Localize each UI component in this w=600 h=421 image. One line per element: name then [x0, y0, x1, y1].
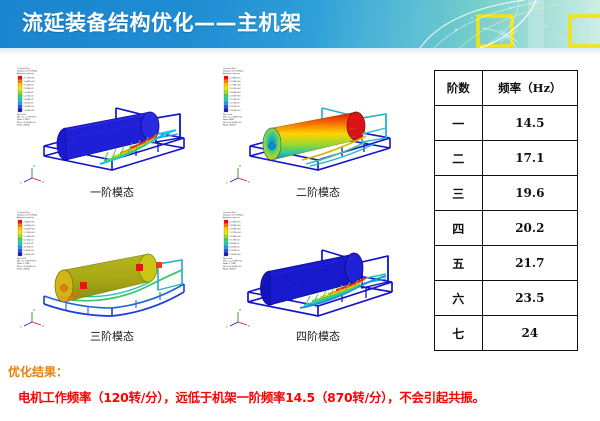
- fea-plot-mode-3: Contour Plot Displacement(Mag) Analysis …: [8, 204, 216, 330]
- svg-text:5.073E-01: 5.073E-01: [229, 103, 240, 105]
- svg-text:Contour Plot: Contour Plot: [223, 211, 236, 214]
- cell-frequency: 17.1: [482, 141, 577, 176]
- figure-caption: 二阶模态: [214, 184, 422, 200]
- svg-text:1.043E+00: 1.043E+00: [23, 80, 35, 83]
- svg-text:No result: No result: [223, 113, 233, 116]
- svg-text:1.173E+00: 1.173E+00: [23, 76, 35, 79]
- svg-text:Z: Z: [33, 308, 35, 312]
- svg-text:No result: No result: [223, 257, 233, 260]
- svg-text:Y: Y: [226, 181, 228, 185]
- svg-text:Displacement(Mag): Displacement(Mag): [17, 214, 37, 217]
- svg-text:Max = 1.173E+00: Max = 1.173E+00: [17, 116, 37, 119]
- cell-order: 七: [435, 316, 483, 351]
- svg-text:X: X: [42, 180, 44, 184]
- fea-plot-mode-4: Contour Plot Displacement(Mag) Analysis …: [214, 204, 422, 330]
- svg-text:Z: Z: [33, 164, 35, 168]
- svg-text:1.437E+00: 1.437E+00: [23, 228, 35, 231]
- svg-text:1.142E+00: 1.142E+00: [229, 235, 241, 238]
- svg-text:1.847E+00: 1.847E+00: [23, 220, 35, 223]
- svg-text:Displacement(Mag): Displacement(Mag): [17, 70, 37, 73]
- svg-text:No result: No result: [17, 257, 27, 260]
- cell-frequency: 23.5: [482, 281, 577, 316]
- column-header-frequency: 频率（Hz）: [482, 71, 577, 106]
- table-row: 一 14.5: [435, 106, 578, 141]
- fea-plot-mode-2: Contour Plot Displacement(Mag) Analysis …: [214, 60, 422, 186]
- table-row: 三 19.6: [435, 176, 578, 211]
- svg-text:0.000E+00: 0.000E+00: [229, 253, 241, 256]
- svg-text:1.231E+00: 1.231E+00: [23, 231, 35, 234]
- figure-caption: 三阶模态: [8, 328, 216, 344]
- svg-text:Node 38098: Node 38098: [223, 268, 236, 270]
- figure-mode-2: Contour Plot Displacement(Mag) Analysis …: [214, 60, 422, 206]
- banner-underglow: [0, 48, 600, 55]
- svg-text:Min = 0.000E+00: Min = 0.000E+00: [17, 265, 36, 268]
- table-row: 七 24: [435, 316, 578, 351]
- svg-text:2.056E+00: 2.056E+00: [229, 220, 241, 223]
- cell-order: 六: [435, 281, 483, 316]
- svg-text:Y: Y: [20, 181, 22, 185]
- svg-text:9.125E-01: 9.125E-01: [23, 85, 34, 87]
- svg-text:1.371E+00: 1.371E+00: [229, 231, 241, 234]
- svg-text:Node 38098: Node 38098: [17, 268, 30, 270]
- svg-text:6.515E-01: 6.515E-01: [23, 92, 34, 94]
- slide-banner: 流延装备结构优化——主机架: [0, 0, 600, 48]
- figure-mode-1: Contour Plot Displacement(Mag) Analysis …: [8, 60, 216, 206]
- svg-text:7.610E-01: 7.610E-01: [229, 99, 240, 101]
- svg-text:X: X: [42, 324, 44, 328]
- page-title: 流延装备结构优化——主机架: [22, 7, 302, 37]
- cell-order: 五: [435, 246, 483, 281]
- svg-text:7.820E-01: 7.820E-01: [23, 88, 34, 90]
- optimization-result-label: 优化结果：: [8, 363, 68, 380]
- svg-text:5.210E-01: 5.210E-01: [23, 95, 34, 97]
- svg-text:1.599E+00: 1.599E+00: [229, 228, 241, 231]
- svg-text:2.537E-01: 2.537E-01: [229, 106, 240, 108]
- svg-text:Z: Z: [239, 164, 241, 168]
- svg-text:Z: Z: [239, 308, 241, 312]
- svg-text:4.569E-01: 4.569E-01: [229, 247, 240, 249]
- svg-text:4.105E-01: 4.105E-01: [23, 247, 34, 249]
- column-header-order: 阶数: [435, 71, 483, 106]
- cell-order: 一: [435, 106, 483, 141]
- cell-order: 二: [435, 141, 483, 176]
- svg-text:8.210E-01: 8.210E-01: [23, 239, 34, 241]
- banner-decoration: [360, 0, 600, 48]
- svg-text:0.000E+00: 0.000E+00: [23, 253, 35, 256]
- svg-text:X: X: [248, 180, 250, 184]
- cell-order: 四: [435, 211, 483, 246]
- svg-text:Node 38098: Node 38098: [17, 124, 30, 126]
- table-header-row: 阶数 频率（Hz）: [435, 71, 578, 106]
- fea-plot-mode-1: Contour Plot Displacement(Mag) Analysis …: [8, 60, 216, 186]
- mode-shape-figures: Contour Plot Displacement(Mag) Analysis …: [0, 58, 424, 356]
- svg-text:Node 38098: Node 38098: [223, 124, 236, 126]
- svg-text:Max = 2.283E+00: Max = 2.283E+00: [223, 116, 243, 119]
- table-row: 二 17.1: [435, 141, 578, 176]
- cell-frequency: 24: [482, 316, 577, 351]
- svg-text:Analysis system: Analysis system: [223, 72, 240, 75]
- svg-text:Analysis system: Analysis system: [223, 216, 240, 219]
- frequency-table: 阶数 频率（Hz） 一 14.5 二 17.1 三 19.6 四: [434, 70, 578, 351]
- svg-text:2.030E+00: 2.030E+00: [229, 80, 241, 83]
- cell-frequency: 21.7: [482, 246, 577, 281]
- svg-text:2.283E+00: 2.283E+00: [229, 76, 241, 79]
- table-row: 四 20.2: [435, 211, 578, 246]
- svg-text:Analysis system: Analysis system: [17, 72, 34, 75]
- slide-footer: 优化结果： 电机工作频率（120转/分），远低于机架一阶频率14.5（870转/…: [0, 358, 600, 421]
- svg-text:Contour Plot: Contour Plot: [223, 67, 236, 70]
- svg-text:2.052E-01: 2.052E-01: [23, 250, 34, 252]
- frequency-table-container: 阶数 频率（Hz） 一 14.5 二 17.1 三 19.6 四: [434, 70, 580, 351]
- svg-text:Min = 0.000E+00: Min = 0.000E+00: [223, 265, 242, 268]
- svg-text:1.642E+00: 1.642E+00: [23, 224, 35, 227]
- svg-text:1.026E+00: 1.026E+00: [23, 235, 35, 238]
- figure-mode-3: Contour Plot Displacement(Mag) Analysis …: [8, 204, 216, 350]
- svg-text:1.296E-01: 1.296E-01: [23, 106, 34, 108]
- svg-text:6.854E-01: 6.854E-01: [229, 243, 240, 245]
- svg-text:2.601E-01: 2.601E-01: [23, 103, 34, 105]
- cell-order: 三: [435, 176, 483, 211]
- svg-text:X: X: [248, 324, 250, 328]
- svg-text:0.000E+00: 0.000E+00: [23, 109, 35, 112]
- svg-text:0.000E+00: 0.000E+00: [229, 109, 241, 112]
- slide: 流延装备结构优化——主机架 Contour Plot Displacement(…: [0, 0, 600, 421]
- table-row: 五 21.7: [435, 246, 578, 281]
- cell-frequency: 20.2: [482, 211, 577, 246]
- svg-text:Contour Plot: Contour Plot: [17, 67, 30, 70]
- svg-text:2.285E-01: 2.285E-01: [229, 250, 240, 252]
- svg-text:Max = 1.847E+00: Max = 1.847E+00: [17, 260, 37, 263]
- svg-text:Contour Plot: Contour Plot: [17, 211, 30, 214]
- cell-frequency: 14.5: [482, 106, 577, 141]
- svg-text:1.828E+00: 1.828E+00: [229, 224, 241, 227]
- table-row: 六 23.5: [435, 281, 578, 316]
- svg-text:3.906E-01: 3.906E-01: [23, 99, 34, 101]
- svg-text:9.139E-01: 9.139E-01: [229, 239, 240, 241]
- svg-text:Min = 0.000E+00: Min = 0.000E+00: [17, 121, 36, 124]
- optimization-result-text: 电机工作频率（120转/分），远低于机架一阶频率14.5（870转/分），不会引…: [18, 388, 594, 406]
- svg-text:1.015E+00: 1.015E+00: [229, 94, 241, 97]
- svg-text:1.268E+00: 1.268E+00: [229, 91, 241, 94]
- svg-text:Y: Y: [20, 325, 22, 329]
- svg-text:Displacement(Mag): Displacement(Mag): [223, 70, 243, 73]
- svg-text:6.157E-01: 6.157E-01: [23, 243, 34, 245]
- svg-text:Displacement(Mag): Displacement(Mag): [223, 214, 243, 217]
- figure-caption: 四阶模态: [214, 328, 422, 344]
- svg-text:Analysis system: Analysis system: [17, 216, 34, 219]
- svg-text:1.776E+00: 1.776E+00: [229, 84, 241, 87]
- svg-text:Min = 0.000E+00: Min = 0.000E+00: [223, 121, 242, 124]
- svg-text:1.522E+00: 1.522E+00: [229, 87, 241, 90]
- figure-mode-4: Contour Plot Displacement(Mag) Analysis …: [214, 204, 422, 350]
- figure-caption: 一阶模态: [8, 184, 216, 200]
- svg-text:Max = 2.056E+00: Max = 2.056E+00: [223, 260, 243, 263]
- svg-text:No result: No result: [17, 113, 27, 116]
- svg-text:Y: Y: [226, 325, 228, 329]
- cell-frequency: 19.6: [482, 176, 577, 211]
